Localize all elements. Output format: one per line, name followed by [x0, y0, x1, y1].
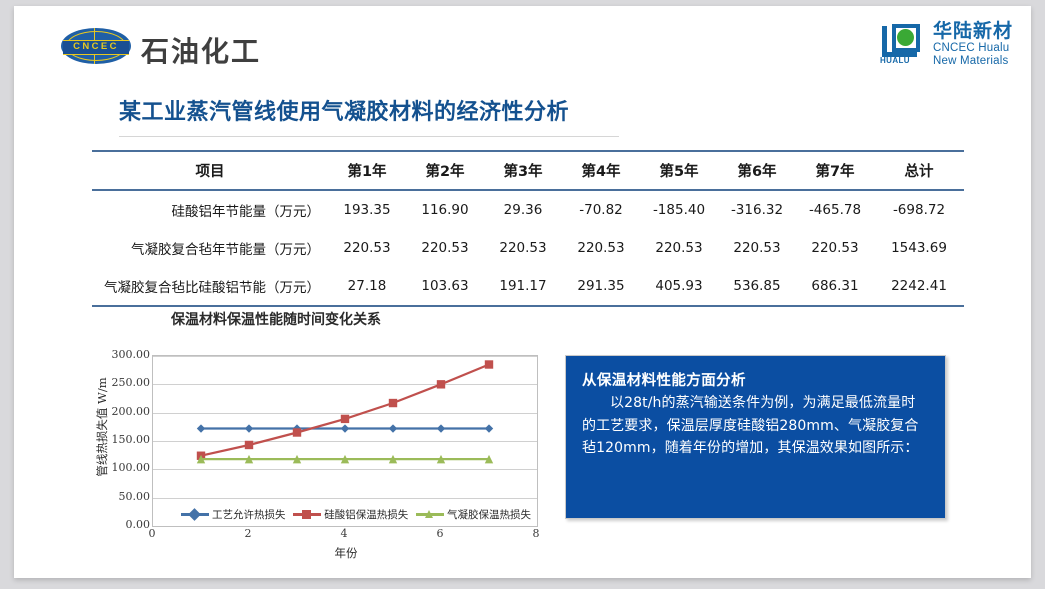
table-col-header: 第5年 — [640, 151, 718, 190]
table-body: 硅酸铝年节能量（万元）193.35116.9029.36-70.82-185.4… — [92, 190, 964, 306]
hualu-name-cn: 华陆新材 — [933, 21, 1013, 42]
chart-data-point — [293, 428, 301, 436]
chart-x-tick-label: 4 — [329, 527, 359, 540]
slide-canvas: CNCEC 石油化工 HUALU 华陆新材 CNCEC Hualu New Ma… — [14, 6, 1031, 578]
table-cell: -316.32 — [718, 190, 796, 229]
legend-label: 工艺允许热损失 — [212, 507, 286, 522]
chart-data-point — [437, 424, 445, 432]
table-col-header: 第2年 — [406, 151, 484, 190]
table-col-header: 总计 — [874, 151, 964, 190]
chart-title: 保温材料保温性能随时间变化关系 — [76, 309, 476, 329]
cncec-logo: CNCEC — [61, 28, 131, 64]
economics-table: 项目第1年第2年第3年第4年第5年第6年第7年总计 硅酸铝年节能量（万元）193… — [92, 150, 964, 307]
table-cell: -465.78 — [796, 190, 874, 229]
table-cell: 220.53 — [328, 229, 406, 267]
table-col-header: 第1年 — [328, 151, 406, 190]
page-title: 某工业蒸汽管线使用气凝胶材料的经济性分析 — [119, 94, 569, 126]
hualu-name-en-line2: New Materials — [933, 55, 1013, 68]
table-cell: 1543.69 — [874, 229, 964, 267]
table-row: 气凝胶复合毡年节能量（万元）220.53220.53220.53220.5322… — [92, 229, 964, 267]
table-cell: -70.82 — [562, 190, 640, 229]
cncec-wordmark: CNCEC — [63, 40, 129, 55]
chart-y-tick-label: 300.00 — [90, 348, 150, 361]
table-col-header: 第7年 — [796, 151, 874, 190]
chart-legend: 工艺允许热损失硅酸铝保温热损失气凝胶保温热损失 — [181, 507, 531, 522]
chart-data-point — [389, 424, 397, 432]
chart-data-point — [341, 415, 349, 423]
hualu-logo: HUALU 华陆新材 CNCEC Hualu New Materials — [880, 22, 1013, 66]
chart-data-point — [341, 424, 349, 432]
chart-data-point — [389, 399, 397, 407]
hualu-green-dot — [897, 29, 914, 46]
analysis-callout: 从保温材料性能方面分析 以28t/h的蒸汽输送条件为例，为满足最低流量时的工艺要… — [565, 355, 946, 519]
table-cell: 220.53 — [484, 229, 562, 267]
table-row-label: 硅酸铝年节能量（万元） — [92, 190, 328, 229]
chart-legend-entry[interactable]: 气凝胶保温热损失 — [416, 507, 531, 522]
chart-data-point — [197, 424, 205, 432]
table-row-label: 气凝胶复合毡年节能量（万元） — [92, 229, 328, 267]
legend-label: 气凝胶保温热损失 — [447, 507, 531, 522]
chart-data-point — [437, 380, 445, 388]
legend-marker-icon — [302, 510, 311, 519]
legend-marker-icon — [188, 508, 201, 521]
chart-data-point — [245, 441, 253, 449]
hualu-wordmark: HUALU — [880, 56, 910, 65]
chart-legend-entry[interactable]: 工艺允许热损失 — [181, 507, 286, 522]
chart-x-tick-label: 0 — [137, 527, 167, 540]
chart-y-tick-label: 100.00 — [90, 461, 150, 474]
table-cell: 220.53 — [640, 229, 718, 267]
chart-y-axis-label: 管线热损失值 W/m — [94, 347, 110, 507]
table-cell: 27.18 — [328, 267, 406, 306]
table-cell: 103.63 — [406, 267, 484, 306]
chart-legend-entry[interactable]: 硅酸铝保温热损失 — [293, 507, 408, 522]
table-cell: 220.53 — [796, 229, 874, 267]
table-row: 硅酸铝年节能量（万元）193.35116.9029.36-70.82-185.4… — [92, 190, 964, 229]
performance-chart: 保温材料保温性能随时间变化关系 管线热损失值 W/m 年份 0.0050.001… — [76, 309, 546, 564]
table-col-header: 第3年 — [484, 151, 562, 190]
legend-swatch-icon — [181, 513, 209, 516]
chart-x-axis-label: 年份 — [146, 545, 546, 561]
title-divider — [119, 136, 619, 137]
table-cell: 405.93 — [640, 267, 718, 306]
chart-data-point — [245, 424, 253, 432]
table-cell: -185.40 — [640, 190, 718, 229]
chart-data-point — [485, 360, 493, 368]
table-cell: 29.36 — [484, 190, 562, 229]
table-cell: 536.85 — [718, 267, 796, 306]
legend-swatch-icon — [416, 513, 444, 516]
chart-y-tick-label: 50.00 — [90, 490, 150, 503]
table-cell: 220.53 — [406, 229, 484, 267]
hualu-mark-icon: HUALU — [880, 24, 926, 64]
brand-title-cn: 石油化工 — [141, 30, 261, 70]
hualu-name-en-line1: CNCEC Hualu — [933, 42, 1013, 55]
legend-marker-icon — [425, 510, 433, 518]
table-cell: 686.31 — [796, 267, 874, 306]
chart-y-tick-label: 200.00 — [90, 405, 150, 418]
table-row: 气凝胶复合毡比硅酸铝节能（万元）27.18103.63191.17291.354… — [92, 267, 964, 306]
table-cell: 191.17 — [484, 267, 562, 306]
chart-y-tick-label: 250.00 — [90, 376, 150, 389]
table-col-header: 第4年 — [562, 151, 640, 190]
chart-x-tick-label: 8 — [521, 527, 551, 540]
analysis-body: 以28t/h的蒸汽输送条件为例，为满足最低流量时的工艺要求，保温层厚度硅酸铝28… — [582, 392, 929, 460]
chart-series-layer — [153, 356, 537, 526]
table-cell: 220.53 — [562, 229, 640, 267]
table-cell: 291.35 — [562, 267, 640, 306]
hualu-text-block: 华陆新材 CNCEC Hualu New Materials — [933, 21, 1013, 68]
table-cell: 193.35 — [328, 190, 406, 229]
table-col-header: 项目 — [92, 151, 328, 190]
analysis-heading: 从保温材料性能方面分析 — [582, 369, 929, 390]
chart-plot-area: 工艺允许热损失硅酸铝保温热损失气凝胶保温热损失 — [152, 355, 538, 527]
table-cell: 2242.41 — [874, 267, 964, 306]
table-cell: 116.90 — [406, 190, 484, 229]
chart-y-tick-label: 150.00 — [90, 433, 150, 446]
table-cell: 220.53 — [718, 229, 796, 267]
chart-x-tick-label: 2 — [233, 527, 263, 540]
chart-x-tick-label: 6 — [425, 527, 455, 540]
legend-label: 硅酸铝保温热损失 — [324, 507, 408, 522]
table-row-label: 气凝胶复合毡比硅酸铝节能（万元） — [92, 267, 328, 306]
chart-series-line — [201, 365, 489, 456]
table-col-header: 第6年 — [718, 151, 796, 190]
table-cell: -698.72 — [874, 190, 964, 229]
table-header-row: 项目第1年第2年第3年第4年第5年第6年第7年总计 — [92, 151, 964, 190]
table-header: 项目第1年第2年第3年第4年第5年第6年第7年总计 — [92, 151, 964, 190]
chart-data-point — [485, 424, 493, 432]
legend-swatch-icon — [293, 513, 321, 516]
